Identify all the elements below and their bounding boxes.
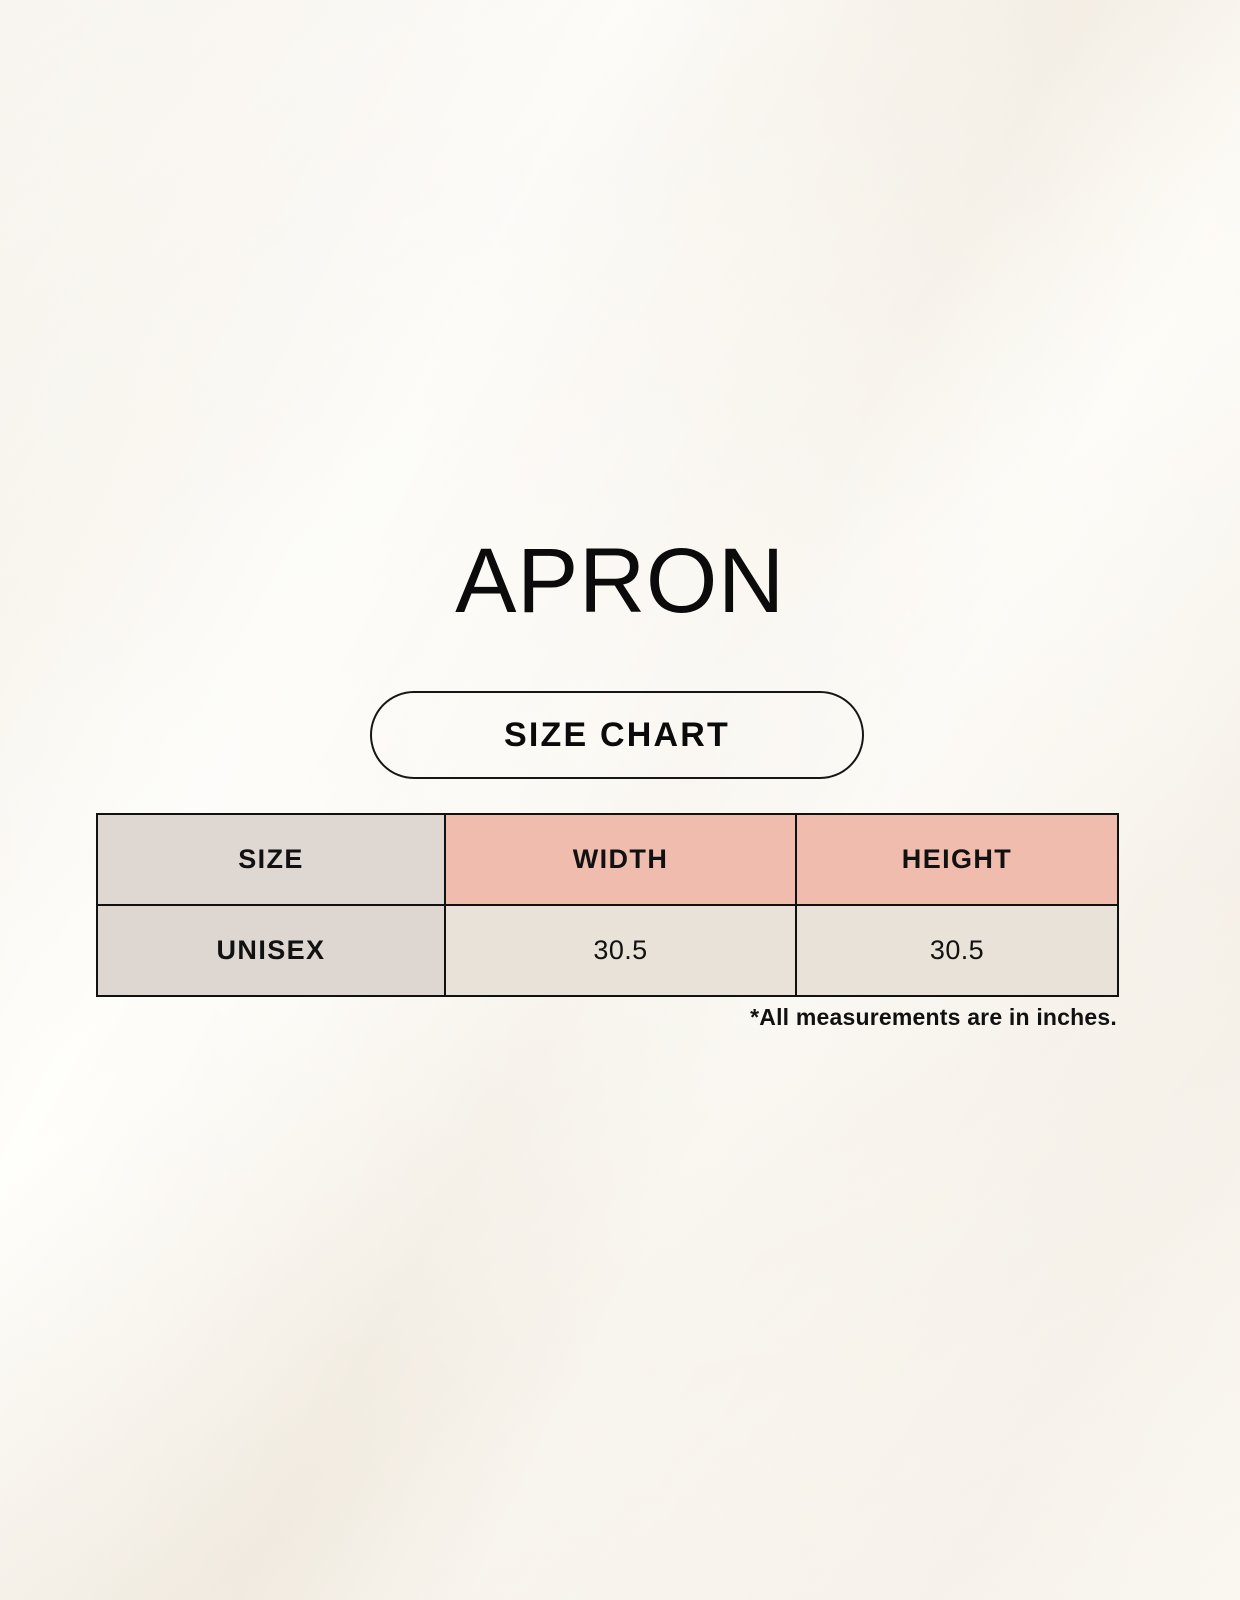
measurement-units-note: *All measurements are in inches. (750, 1004, 1117, 1031)
size-chart-page: APRON SIZE CHART SIZE WIDTH HEIGHT UNISE… (0, 0, 1240, 1600)
column-header-size: SIZE (97, 814, 445, 905)
content-container: APRON SIZE CHART SIZE WIDTH HEIGHT UNISE… (0, 0, 1240, 1600)
cell-size-unisex: UNISEX (97, 905, 445, 996)
cell-height-unisex: 30.5 (796, 905, 1118, 996)
column-header-width: WIDTH (445, 814, 796, 905)
table-header-row: SIZE WIDTH HEIGHT (97, 814, 1118, 905)
column-header-height: HEIGHT (796, 814, 1118, 905)
table-row: UNISEX 30.5 30.5 (97, 905, 1118, 996)
size-chart-table: SIZE WIDTH HEIGHT UNISEX 30.5 30.5 (96, 813, 1119, 997)
size-chart-badge-label: SIZE CHART (504, 716, 730, 755)
cell-width-unisex: 30.5 (445, 905, 796, 996)
page-title: APRON (0, 535, 1240, 627)
size-chart-badge: SIZE CHART (370, 691, 864, 779)
